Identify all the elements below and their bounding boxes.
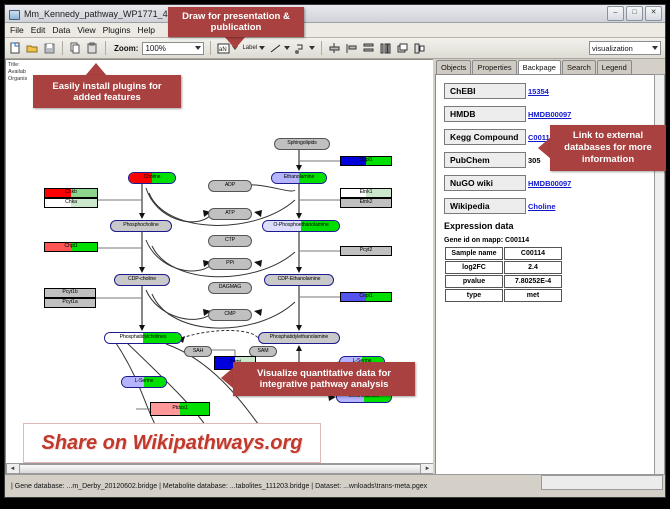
node-label: ATP: [225, 211, 234, 216]
side-panel: Objects Properties Backpage Search Legen…: [433, 59, 665, 475]
new-file-icon[interactable]: [9, 42, 22, 55]
database-entry: HMDBHMDB00097: [444, 104, 654, 122]
connector-dropdown[interactable]: [294, 42, 315, 55]
callout-plugins: Easily install plugins for added feature…: [33, 75, 181, 108]
align-left-icon[interactable]: [345, 42, 358, 55]
pathvisio-window: Mm_Kennedy_pathway_WP1771_45176.gpml – □…: [4, 4, 666, 498]
metabolite-node-l-serine-left[interactable]: L-Serine: [121, 376, 167, 388]
expression-table: Sample nameC00114log2FC2.4pvalue7.80252E…: [444, 246, 563, 303]
bring-to-front-icon[interactable]: [396, 42, 409, 55]
toolbar-separator: [105, 41, 106, 55]
status-right-block: [541, 475, 663, 490]
node-label: Pcyt1b: [62, 290, 77, 295]
table-cell: met: [504, 289, 562, 302]
gene-node-chpt1[interactable]: Chpt1: [44, 242, 98, 252]
database-header-chebi: ChEBI: [444, 83, 526, 99]
node-label: Sphingolipids: [287, 141, 317, 146]
status-bar: | Gene database: ...m_Derby_20120602.bri…: [5, 474, 665, 497]
gene-node-ptdss1[interactable]: Ptdss1: [150, 402, 210, 416]
minimize-button[interactable]: –: [607, 6, 624, 21]
visualization-value: visualization: [592, 44, 633, 53]
table-cell: C00114: [504, 247, 562, 260]
align-center-icon[interactable]: [328, 42, 341, 55]
gene-node-chkb[interactable]: Chkb: [44, 188, 98, 198]
database-link[interactable]: HMDB00097: [528, 179, 571, 188]
tab-properties[interactable]: Properties: [472, 60, 516, 74]
table-row: log2FC2.4: [445, 261, 562, 274]
maximize-button[interactable]: □: [626, 6, 643, 21]
zoom-value: 100%: [145, 44, 165, 53]
metabolite-node-dagmag[interactable]: DAGMAG: [208, 282, 252, 294]
menu-item-help[interactable]: Help: [138, 25, 155, 35]
menu-bar: File Edit Data View Plugins Help: [5, 23, 665, 38]
scroll-left-arrow[interactable]: ◄: [7, 464, 18, 473]
table-row: Sample nameC00114: [445, 247, 562, 260]
table-cell: Sample name: [445, 247, 503, 260]
metabolite-node-choline-top[interactable]: Choline: [128, 172, 176, 184]
menu-item-view[interactable]: View: [77, 25, 95, 35]
sidebar-tabs[interactable]: Objects Properties Backpage Search Legen…: [433, 59, 665, 74]
database-entry: NuGO wikiHMDB00097: [444, 173, 654, 191]
metabolite-node-phosphatidylethanolamine[interactable]: Phosphatidylethanolamine: [258, 332, 340, 344]
node-label: L-Serine: [135, 379, 154, 384]
database-entry: WikipediaCholine: [444, 196, 654, 214]
gene-node-etnk1[interactable]: Etnk1: [340, 188, 392, 198]
node-label: Chka: [65, 200, 77, 205]
node-label: PPi: [226, 261, 234, 266]
node-label: SAM: [258, 349, 269, 354]
distribute-horizontal-icon[interactable]: [379, 42, 392, 55]
callout-draw-arrow-icon: [224, 36, 246, 49]
table-cell: log2FC: [445, 261, 503, 274]
chevron-down-icon: [652, 46, 658, 50]
toolbar: Zoom: 100% aN Label visualizatio: [5, 38, 665, 59]
node-label: Phosphocholine: [123, 223, 159, 228]
node-label: Cept1: [359, 294, 372, 299]
zoom-label: Zoom:: [114, 44, 138, 53]
app-icon: [8, 8, 20, 20]
table-cell: type: [445, 289, 503, 302]
status-text: | Gene database: ...m_Derby_20120602.bri…: [5, 483, 427, 490]
tab-search[interactable]: Search: [562, 60, 596, 74]
paste-icon[interactable]: [86, 42, 99, 55]
zoom-select[interactable]: 100%: [142, 42, 204, 55]
node-label: Phosphatidylethanolamine: [270, 335, 328, 340]
line-icon[interactable]: [269, 42, 282, 55]
distribute-vertical-icon[interactable]: [362, 42, 375, 55]
chevron-down-icon: [309, 46, 315, 50]
node-label: Sgpl1: [360, 158, 373, 163]
metabolite-node-ctp[interactable]: CTP: [208, 235, 252, 247]
database-entry: ChEBI15354: [444, 81, 654, 99]
title-bar: Mm_Kennedy_pathway_WP1771_45176.gpml – □…: [5, 5, 665, 23]
node-label: O-Phosphoethanolamine: [273, 223, 328, 228]
node-label: CTP: [225, 238, 235, 243]
metabolite-node-sah[interactable]: SAH: [184, 346, 212, 357]
metabolite-node-ppi[interactable]: PPi: [208, 258, 252, 270]
node-label: Pcyt2: [360, 248, 372, 253]
callout-link-db: Link to external databases for more info…: [550, 125, 666, 171]
table-cell: 2.4: [504, 261, 562, 274]
gene-node-pcyt1b[interactable]: Pcyt1b: [44, 288, 96, 298]
menu-item-data[interactable]: Data: [52, 25, 70, 35]
metabolite-node-o-phosphoethanolamine[interactable]: O-Phosphoethanolamine: [262, 220, 340, 232]
node-label: ADP: [225, 183, 235, 188]
node-label: Ethanolamine: [284, 175, 315, 180]
save-icon[interactable]: [43, 42, 56, 55]
gene-node-sgpl1[interactable]: Sgpl1: [340, 156, 392, 166]
connector-icon[interactable]: [294, 42, 307, 55]
toolbar-separator: [210, 41, 211, 55]
database-header-pubchem: PubChem: [444, 152, 526, 168]
toolbar-separator: [321, 41, 322, 55]
window-controls[interactable]: – □ ✕: [607, 6, 662, 21]
database-header-wikipedia: Wikipedia: [444, 198, 526, 214]
metabolite-node-cdp-ethanolamine[interactable]: CDP-Ethanolamine: [264, 274, 334, 286]
database-link[interactable]: Choline: [528, 202, 556, 211]
tab-legend[interactable]: Legend: [597, 60, 632, 74]
gene-node-pcyt1a[interactable]: Pcyt1a: [44, 298, 96, 308]
gene-node-chka[interactable]: Chka: [44, 198, 98, 208]
open-folder-icon[interactable]: [26, 42, 39, 55]
menu-item-plugins[interactable]: Plugins: [103, 25, 131, 35]
node-label: CMP: [224, 312, 235, 317]
expression-data-title: Expression data: [444, 221, 654, 231]
share-banner: Share on Wikipathways.org: [23, 423, 321, 463]
database-header-nugo-wiki: NuGO wiki: [444, 175, 526, 191]
send-to-back-icon[interactable]: [413, 42, 426, 55]
node-label: Etnk1: [360, 190, 373, 195]
chevron-down-icon: [259, 46, 265, 50]
metabolite-node-cdp-choline[interactable]: CDP-choline: [114, 274, 170, 286]
scroll-right-arrow[interactable]: ►: [422, 464, 433, 473]
toolbar-separator: [62, 41, 63, 55]
scroll-thumb[interactable]: [19, 464, 421, 474]
canvas-hscrollbar[interactable]: ◄ ►: [6, 463, 433, 474]
database-header-kegg-compound: Kegg Compound: [444, 129, 526, 145]
metabolite-node-phosphatidylcholines[interactable]: Phosphatidylcholines: [104, 332, 182, 344]
database-link[interactable]: 15354: [528, 87, 549, 96]
callout-visualize: Visualize quantitative data for integrat…: [233, 362, 415, 396]
node-label: SAH: [193, 349, 203, 354]
table-row: typemet: [445, 289, 562, 302]
chevron-down-icon: [284, 46, 290, 50]
close-button[interactable]: ✕: [645, 6, 662, 21]
metabolite-node-cmp[interactable]: CMP: [208, 309, 252, 321]
database-header-hmdb: HMDB: [444, 106, 526, 122]
gene-id-line: Gene id on mapp: C00114: [444, 237, 654, 244]
node-label: Ptdss1: [172, 406, 187, 411]
metabolite-node-sphingolipids[interactable]: Sphingolipids: [274, 138, 330, 150]
tab-backpage[interactable]: Backpage: [518, 60, 561, 75]
node-label: CDP-choline: [128, 277, 156, 282]
gene-node-cept1[interactable]: Cept1: [340, 292, 392, 302]
menu-item-edit[interactable]: Edit: [31, 25, 46, 35]
menu-item-file[interactable]: File: [10, 25, 24, 35]
gene-node-pcyt2[interactable]: Pcyt2: [340, 246, 392, 256]
metabolite-node-atp[interactable]: ATP: [208, 208, 252, 220]
table-cell: 7.80252E-4: [504, 275, 562, 288]
node-label: Choline: [144, 175, 161, 180]
database-link[interactable]: HMDB00097: [528, 110, 571, 119]
node-label: Chkb: [65, 190, 77, 195]
tab-objects[interactable]: Objects: [436, 60, 471, 74]
callout-draw: Draw for presentation & publication: [168, 7, 304, 37]
chevron-down-icon: [195, 46, 201, 50]
node-label: Pcyt1a: [62, 300, 77, 305]
metabolite-node-ethanolamine-top[interactable]: Ethanolamine: [271, 172, 327, 184]
visualization-select[interactable]: visualization: [589, 41, 661, 55]
metabolite-node-adp[interactable]: ADP: [208, 180, 252, 192]
copy-icon[interactable]: [69, 42, 82, 55]
node-label: CDP-Ethanolamine: [278, 277, 321, 282]
main-area: Title: Availab Organis: [5, 59, 665, 475]
node-label: Etnk2: [360, 200, 373, 205]
node-label: DAGMAG: [219, 285, 241, 290]
node-label: Phosphatidylcholines: [120, 335, 167, 340]
line-dropdown[interactable]: [269, 42, 290, 55]
gene-node-etnk2[interactable]: Etnk2: [340, 198, 392, 208]
table-cell: pvalue: [445, 275, 503, 288]
pathway-canvas[interactable]: Title: Availab Organis: [5, 59, 433, 475]
table-row: pvalue7.80252E-4: [445, 275, 562, 288]
node-label: Chpt1: [64, 244, 77, 249]
metabolite-node-phosphocholine[interactable]: Phosphocholine: [110, 220, 172, 232]
